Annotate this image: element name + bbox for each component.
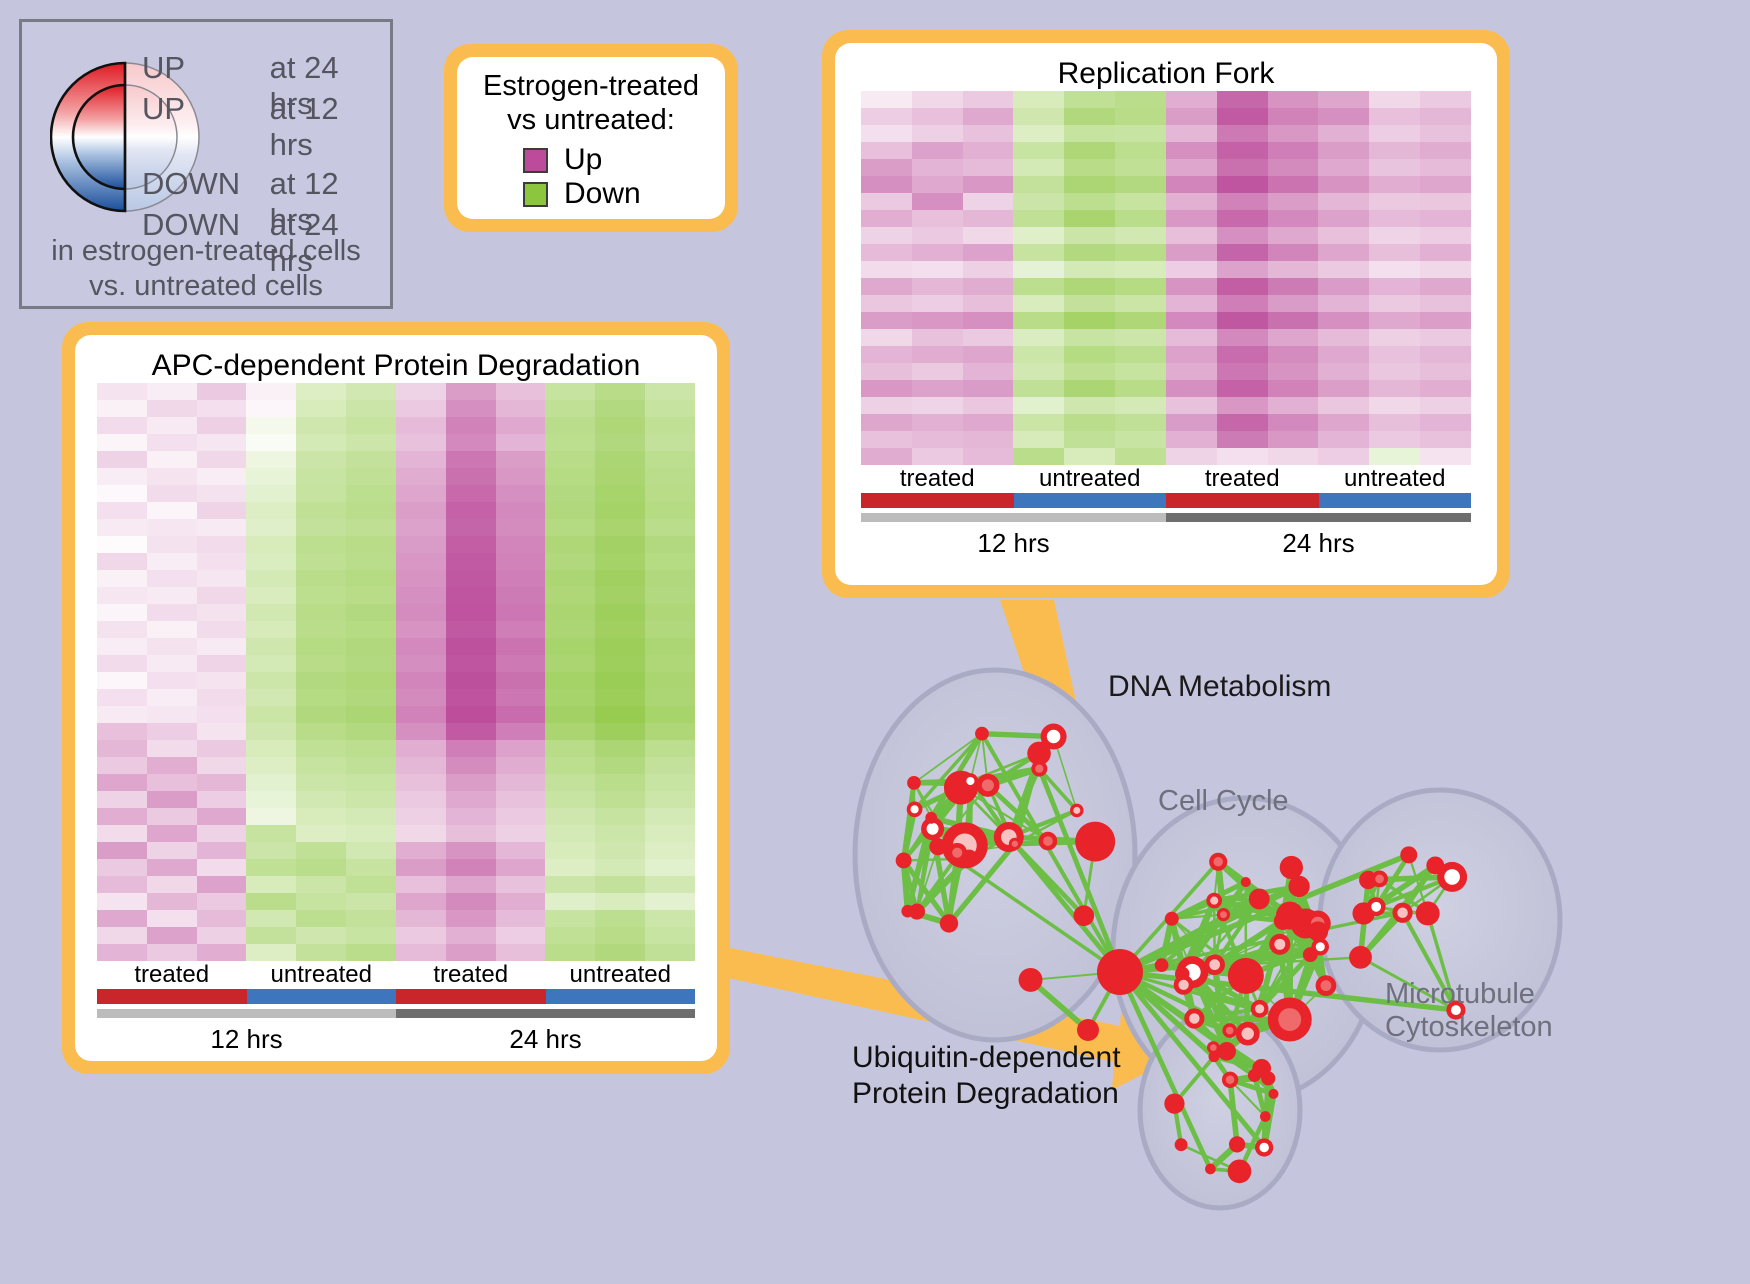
network-node[interactable] <box>975 727 989 741</box>
network-node[interactable] <box>1175 1138 1188 1151</box>
network-node[interactable] <box>1274 912 1292 930</box>
heatmap-cell <box>296 893 346 910</box>
heatmap-cell <box>1217 91 1268 108</box>
heatmap-cell <box>396 825 446 842</box>
network-node[interactable] <box>1260 1111 1271 1122</box>
network-node[interactable] <box>1371 871 1388 888</box>
network-node[interactable] <box>1349 946 1372 969</box>
network-node[interactable] <box>1217 908 1230 921</box>
heatmap-cell <box>595 723 645 740</box>
heatmap-cell <box>861 397 912 414</box>
heatmap-cell <box>1166 244 1217 261</box>
heatmap-cell <box>97 587 147 604</box>
heatmap-cell <box>1013 414 1064 431</box>
time-labels-row: 12 hrs 24 hrs <box>861 522 1471 559</box>
heatmap-cell <box>446 502 496 519</box>
node-inner-core <box>1035 764 1043 772</box>
node-inner-core <box>1209 959 1220 970</box>
treated-bar <box>861 493 1014 508</box>
heatmap-cell <box>446 536 496 553</box>
network-node[interactable] <box>1236 1022 1260 1046</box>
node-outer-ring <box>1260 1111 1271 1122</box>
network-node[interactable] <box>1269 934 1290 955</box>
heatmap-cell <box>147 944 197 961</box>
treated-bar <box>97 989 247 1004</box>
node-outer-ring <box>1097 949 1143 995</box>
heatmap-cell <box>446 876 496 893</box>
heatmap-cell <box>1268 227 1319 244</box>
heatmap-cell <box>446 519 496 536</box>
heatmap-cell <box>97 502 147 519</box>
heatmap-cell <box>963 346 1014 363</box>
legend-title-line2: vs untreated: <box>457 103 725 137</box>
group-label: treated <box>861 465 1014 493</box>
heatmap-cell <box>346 417 396 434</box>
heatmap-cell <box>496 621 546 638</box>
heatmap-cell <box>1217 431 1268 448</box>
heatmap-cell <box>861 176 912 193</box>
heatmap-cell <box>1217 176 1268 193</box>
key-row: UP at 12 hrs <box>142 91 390 132</box>
heatmap-cell <box>1217 346 1268 363</box>
heatmap-cell <box>1420 363 1471 380</box>
heatmap-cell <box>246 485 296 502</box>
heatmap-cell <box>197 859 247 876</box>
heatmap-cell <box>246 468 296 485</box>
heatmap-cell <box>963 295 1014 312</box>
heatmap-cell <box>396 791 446 808</box>
network-node[interactable] <box>1097 949 1143 995</box>
node-inner-core <box>1220 911 1227 918</box>
heatmap-cell <box>1268 295 1319 312</box>
network-node[interactable] <box>976 774 999 797</box>
network-node[interactable] <box>1426 856 1444 874</box>
heatmap-cell <box>496 689 546 706</box>
heatmap-cell <box>197 842 247 859</box>
heatmap-cell <box>446 757 496 774</box>
heatmap-cell <box>197 451 247 468</box>
time-bar-12hrs <box>97 1009 396 1018</box>
heatmap-cell <box>1013 227 1064 244</box>
network-node[interactable] <box>1268 998 1312 1042</box>
heatmap-cell <box>97 655 147 672</box>
heatmap-cell <box>1115 278 1166 295</box>
heatmap-cell <box>645 587 695 604</box>
heatmap-cell <box>246 621 296 638</box>
time-label: 24 hrs <box>1166 522 1471 559</box>
heatmap-cell <box>595 740 645 757</box>
key-direction-label: DOWN <box>142 166 270 202</box>
network-node[interactable] <box>940 914 958 932</box>
network-node[interactable] <box>1222 1072 1238 1088</box>
heatmap-cell <box>1064 397 1115 414</box>
heatmap-cell <box>147 451 197 468</box>
key-footer-line2: vs. untreated cells <box>22 269 390 304</box>
heatmap-cell <box>1420 414 1471 431</box>
network-node[interactable] <box>1268 1089 1278 1099</box>
node-outer-ring <box>1280 856 1303 879</box>
network-node[interactable] <box>1039 832 1058 851</box>
heatmap-cell <box>346 655 396 672</box>
heatmap-cell <box>595 553 645 570</box>
network-node[interactable] <box>1217 1042 1236 1061</box>
node-outer-ring <box>909 904 925 920</box>
heatmap-cell <box>97 706 147 723</box>
network-node[interactable] <box>907 776 921 790</box>
apc-degradation-inner: APC-dependent Protein Degradation treate… <box>75 335 717 1061</box>
heatmap-cell <box>296 825 346 842</box>
heatmap-cell <box>645 604 695 621</box>
heatmap-cell <box>346 757 396 774</box>
node-outer-ring <box>925 812 937 824</box>
network-node[interactable] <box>1019 968 1043 992</box>
heatmap-cell <box>645 774 695 791</box>
legend-title-line1: Estrogen-treated <box>457 69 725 103</box>
node-inner-core <box>1043 836 1053 846</box>
heatmap-cell <box>1268 91 1319 108</box>
heatmap-cell <box>446 485 496 502</box>
heatmap-cell <box>595 502 645 519</box>
heatmap-cell <box>1115 91 1166 108</box>
network-node[interactable] <box>1073 905 1094 926</box>
network-node[interactable] <box>1280 856 1303 879</box>
heatmap-cell <box>147 502 197 519</box>
heatmap-cell <box>197 740 247 757</box>
legend-item-label: Up <box>564 143 602 177</box>
node-inner-core <box>1278 1008 1301 1031</box>
heatmap-cell <box>545 689 595 706</box>
heatmap-cell <box>545 927 595 944</box>
heatmap-cell <box>1115 261 1166 278</box>
node-inner-core <box>1210 1044 1217 1051</box>
heatmap-cell <box>861 380 912 397</box>
panel-title: APC-dependent Protein Degradation <box>97 349 695 383</box>
heatmap-cell <box>346 825 396 842</box>
heatmap-cell <box>545 604 595 621</box>
heatmap-cell <box>595 587 645 604</box>
heatmap-cell <box>912 278 963 295</box>
heatmap-cell <box>97 689 147 706</box>
key-direction-label: UP <box>142 91 270 127</box>
heatmap-cell <box>645 672 695 689</box>
heatmap-cell <box>97 434 147 451</box>
group-label: untreated <box>247 961 397 989</box>
heatmap-cell <box>1064 329 1115 346</box>
heatmap-cell <box>147 893 197 910</box>
heatmap-cell <box>861 244 912 261</box>
heatmap-cell <box>1268 363 1319 380</box>
heatmap-cell <box>446 553 496 570</box>
heatmap-cell <box>246 757 296 774</box>
heatmap-cell <box>595 791 645 808</box>
heatmap-cell <box>147 791 197 808</box>
heatmap-cell <box>1013 159 1064 176</box>
heatmap-cell <box>1217 414 1268 431</box>
heatmap-cell <box>296 638 346 655</box>
heatmap-cell <box>396 638 446 655</box>
heatmap-cell <box>396 774 446 791</box>
network-node[interactable] <box>1316 975 1337 996</box>
heatmap-cell <box>246 808 296 825</box>
node-outer-ring <box>1261 1071 1275 1085</box>
heatmap-cell <box>147 774 197 791</box>
network-node[interactable] <box>1206 893 1222 909</box>
network-node[interactable] <box>1205 1164 1216 1175</box>
network-node[interactable] <box>1077 1019 1099 1041</box>
key-direction-label: UP <box>142 50 270 86</box>
heatmap-cell <box>246 944 296 961</box>
heatmap-cell <box>97 893 147 910</box>
heatmap-cell <box>645 621 695 638</box>
network-node[interactable] <box>1070 804 1084 818</box>
heatmap-cell <box>346 536 396 553</box>
heatmap-cell <box>246 859 296 876</box>
heatmap-cell <box>496 825 546 842</box>
heatmap-cell <box>1166 380 1217 397</box>
heatmap-cell <box>296 706 346 723</box>
heatmap-cell <box>1217 227 1268 244</box>
heatmap-cell <box>496 417 546 434</box>
heatmap-cell <box>645 655 695 672</box>
network-node[interactable] <box>929 838 946 855</box>
heatmap-cell <box>1064 159 1115 176</box>
node-inner-core <box>1397 907 1408 918</box>
group-color-bar <box>97 989 695 1004</box>
heatmap-cell <box>963 414 1014 431</box>
node-inner-core <box>1316 942 1325 951</box>
network-node[interactable] <box>1229 1136 1245 1152</box>
heatmap-cell <box>1166 397 1217 414</box>
heatmap-cell <box>1369 261 1420 278</box>
heatmap-cell <box>1318 125 1369 142</box>
node-inner-core <box>1047 730 1061 744</box>
network-node[interactable] <box>907 801 923 817</box>
heatmap-cell <box>396 553 446 570</box>
heatmap-cell <box>346 434 396 451</box>
heatmap-cell <box>246 893 296 910</box>
network-node[interactable] <box>1261 1071 1275 1085</box>
untreated-bar <box>1319 493 1472 508</box>
heatmap-cell <box>246 723 296 740</box>
heatmap-cell <box>147 468 197 485</box>
heatmap-cell <box>197 655 247 672</box>
heatmap-cell <box>197 944 247 961</box>
heatmap-cell <box>97 825 147 842</box>
heatmap-cell <box>545 757 595 774</box>
heatmap-cell <box>246 876 296 893</box>
heatmap-cell <box>1166 142 1217 159</box>
network-node[interactable] <box>896 853 912 869</box>
heatmap-cell <box>1268 397 1319 414</box>
network-node[interactable] <box>1204 954 1225 975</box>
heatmap-cell <box>346 723 396 740</box>
network-node[interactable] <box>1416 901 1440 925</box>
heatmap-cell <box>545 468 595 485</box>
heatmap-cell <box>912 227 963 244</box>
heatmap-cell <box>446 859 496 876</box>
heatmap-cell <box>296 808 346 825</box>
heatmap-cell <box>545 825 595 842</box>
network-node[interactable] <box>1164 1094 1184 1114</box>
network-node[interactable] <box>1165 912 1179 926</box>
heatmap-cell <box>1217 448 1268 465</box>
pathway-network-diagram: DNA Metabolism Cell Cycle Microtubule Cy… <box>790 600 1750 1279</box>
heatmap-cell <box>296 485 346 502</box>
heatmap-cell <box>97 468 147 485</box>
network-node[interactable] <box>1009 838 1021 850</box>
time-bar-24hrs <box>396 1009 695 1018</box>
replication-fork-inner: Replication Fork treated untreated treat… <box>835 43 1497 585</box>
heatmap-cell <box>446 468 496 485</box>
node-outer-ring <box>1400 846 1417 863</box>
heatmap-cell <box>147 842 197 859</box>
network-node[interactable] <box>1241 877 1251 887</box>
heatmap-cell <box>545 587 595 604</box>
heatmap-cell <box>912 346 963 363</box>
heatmap-cell <box>963 363 1014 380</box>
heatmap-cell <box>147 519 197 536</box>
network-node[interactable] <box>1392 903 1412 923</box>
heatmap-cell <box>197 757 247 774</box>
network-node[interactable] <box>925 812 937 824</box>
treated-bar <box>1166 493 1319 508</box>
heatmap-cell <box>1064 244 1115 261</box>
heatmap-cell <box>147 706 197 723</box>
network-node[interactable] <box>1249 888 1270 909</box>
heatmap-cell <box>595 706 645 723</box>
network-node[interactable] <box>1031 761 1047 777</box>
heatmap-cell <box>645 757 695 774</box>
network-node[interactable] <box>1251 1000 1269 1018</box>
heatmap-cell <box>296 723 346 740</box>
key-row: UP at 24 hrs <box>142 50 390 91</box>
node-inner-core <box>1178 980 1188 990</box>
heatmap-cell <box>496 927 546 944</box>
heatmap-cell <box>246 400 296 417</box>
heatmap-cell <box>1013 125 1064 142</box>
heatmap-cell <box>446 706 496 723</box>
heatmap-cell <box>396 570 446 587</box>
heatmap-cell <box>963 244 1014 261</box>
network-node[interactable] <box>1075 822 1115 862</box>
heatmap-cell <box>1420 397 1471 414</box>
heatmap-cell <box>963 448 1014 465</box>
heatmap-cell <box>645 553 695 570</box>
heatmap-cell <box>1166 329 1217 346</box>
network-node[interactable] <box>1209 853 1227 871</box>
heatmap-cell <box>396 723 446 740</box>
heatmap-cell <box>1318 380 1369 397</box>
heatmap-cell <box>1318 346 1369 363</box>
heatmap-cell <box>1064 142 1115 159</box>
heatmap-cell <box>1115 295 1166 312</box>
heatmap-cell <box>147 604 197 621</box>
network-node[interactable] <box>1312 938 1329 955</box>
network-node[interactable] <box>1255 1138 1273 1156</box>
heatmap-cell <box>1420 312 1471 329</box>
heatmap-cell <box>1115 125 1166 142</box>
network-node[interactable] <box>1367 897 1386 916</box>
network-node[interactable] <box>1248 1069 1261 1082</box>
network-node[interactable] <box>1400 846 1417 863</box>
network-node[interactable] <box>963 773 979 789</box>
heatmap-cell <box>595 927 645 944</box>
heatmap-cell <box>595 383 645 400</box>
network-node[interactable] <box>1207 1041 1220 1054</box>
heatmap-cell <box>446 383 496 400</box>
heatmap-cell <box>912 108 963 125</box>
heatmap-cell <box>396 757 446 774</box>
network-node[interactable] <box>1288 876 1309 897</box>
heatmap-cell <box>595 519 645 536</box>
heatmap-cell <box>197 689 247 706</box>
heatmap-cell <box>97 757 147 774</box>
network-node[interactable] <box>1174 975 1194 995</box>
heatmap-cell <box>446 927 496 944</box>
heatmap-cell <box>1115 397 1166 414</box>
heatmap-cell <box>446 672 496 689</box>
heatmap-cell <box>446 910 496 927</box>
heatmap-cell <box>346 383 396 400</box>
network-node[interactable] <box>1222 1023 1237 1038</box>
heatmap-cell <box>1420 227 1471 244</box>
network-node[interactable] <box>1228 958 1264 994</box>
heatmap-cell <box>396 519 446 536</box>
heatmap-cell <box>1420 346 1471 363</box>
heatmap-cell <box>396 706 446 723</box>
heatmap-cell <box>346 672 396 689</box>
time-bar-12hrs <box>861 513 1166 522</box>
heatmap-cell <box>496 723 546 740</box>
network-node[interactable] <box>948 843 967 862</box>
heatmap-cell <box>496 468 546 485</box>
network-node[interactable] <box>909 904 925 920</box>
heatmap-cell <box>197 417 247 434</box>
heatmap-cell <box>1420 295 1471 312</box>
heatmap-cell <box>1420 431 1471 448</box>
heatmap-cell <box>246 434 296 451</box>
node-outer-ring <box>1248 1069 1261 1082</box>
node-inner-core <box>966 777 974 785</box>
network-node[interactable] <box>1184 1008 1204 1028</box>
network-node[interactable] <box>1155 958 1169 972</box>
expression-key-box: UP at 24 hrs UP at 12 hrs DOWN at 12 hrs… <box>19 19 393 309</box>
heatmap-cell <box>1064 363 1115 380</box>
heatmap-cell <box>1115 312 1166 329</box>
heatmap-cell <box>446 451 496 468</box>
heatmap-cell <box>246 910 296 927</box>
heatmap-cell <box>595 451 645 468</box>
heatmap-cell <box>1115 210 1166 227</box>
heatmap-cell <box>246 417 296 434</box>
heatmap-cell <box>1369 278 1420 295</box>
node-outer-ring <box>1217 1042 1236 1061</box>
heatmap-cell <box>396 536 446 553</box>
heatmap-cell <box>963 431 1014 448</box>
heatmap-cell <box>97 570 147 587</box>
heatmap-cell <box>1420 210 1471 227</box>
network-node[interactable] <box>1228 1159 1252 1183</box>
heatmap-cell <box>1420 448 1471 465</box>
heatmap-cell <box>97 944 147 961</box>
heatmap-cell <box>97 638 147 655</box>
node-inner-core <box>1189 1013 1200 1024</box>
heatmap-cell <box>147 638 197 655</box>
heatmap-cell <box>963 108 1014 125</box>
heatmap-cell <box>1268 329 1319 346</box>
up-color-swatch <box>523 148 548 173</box>
heatmap-cell <box>346 808 396 825</box>
